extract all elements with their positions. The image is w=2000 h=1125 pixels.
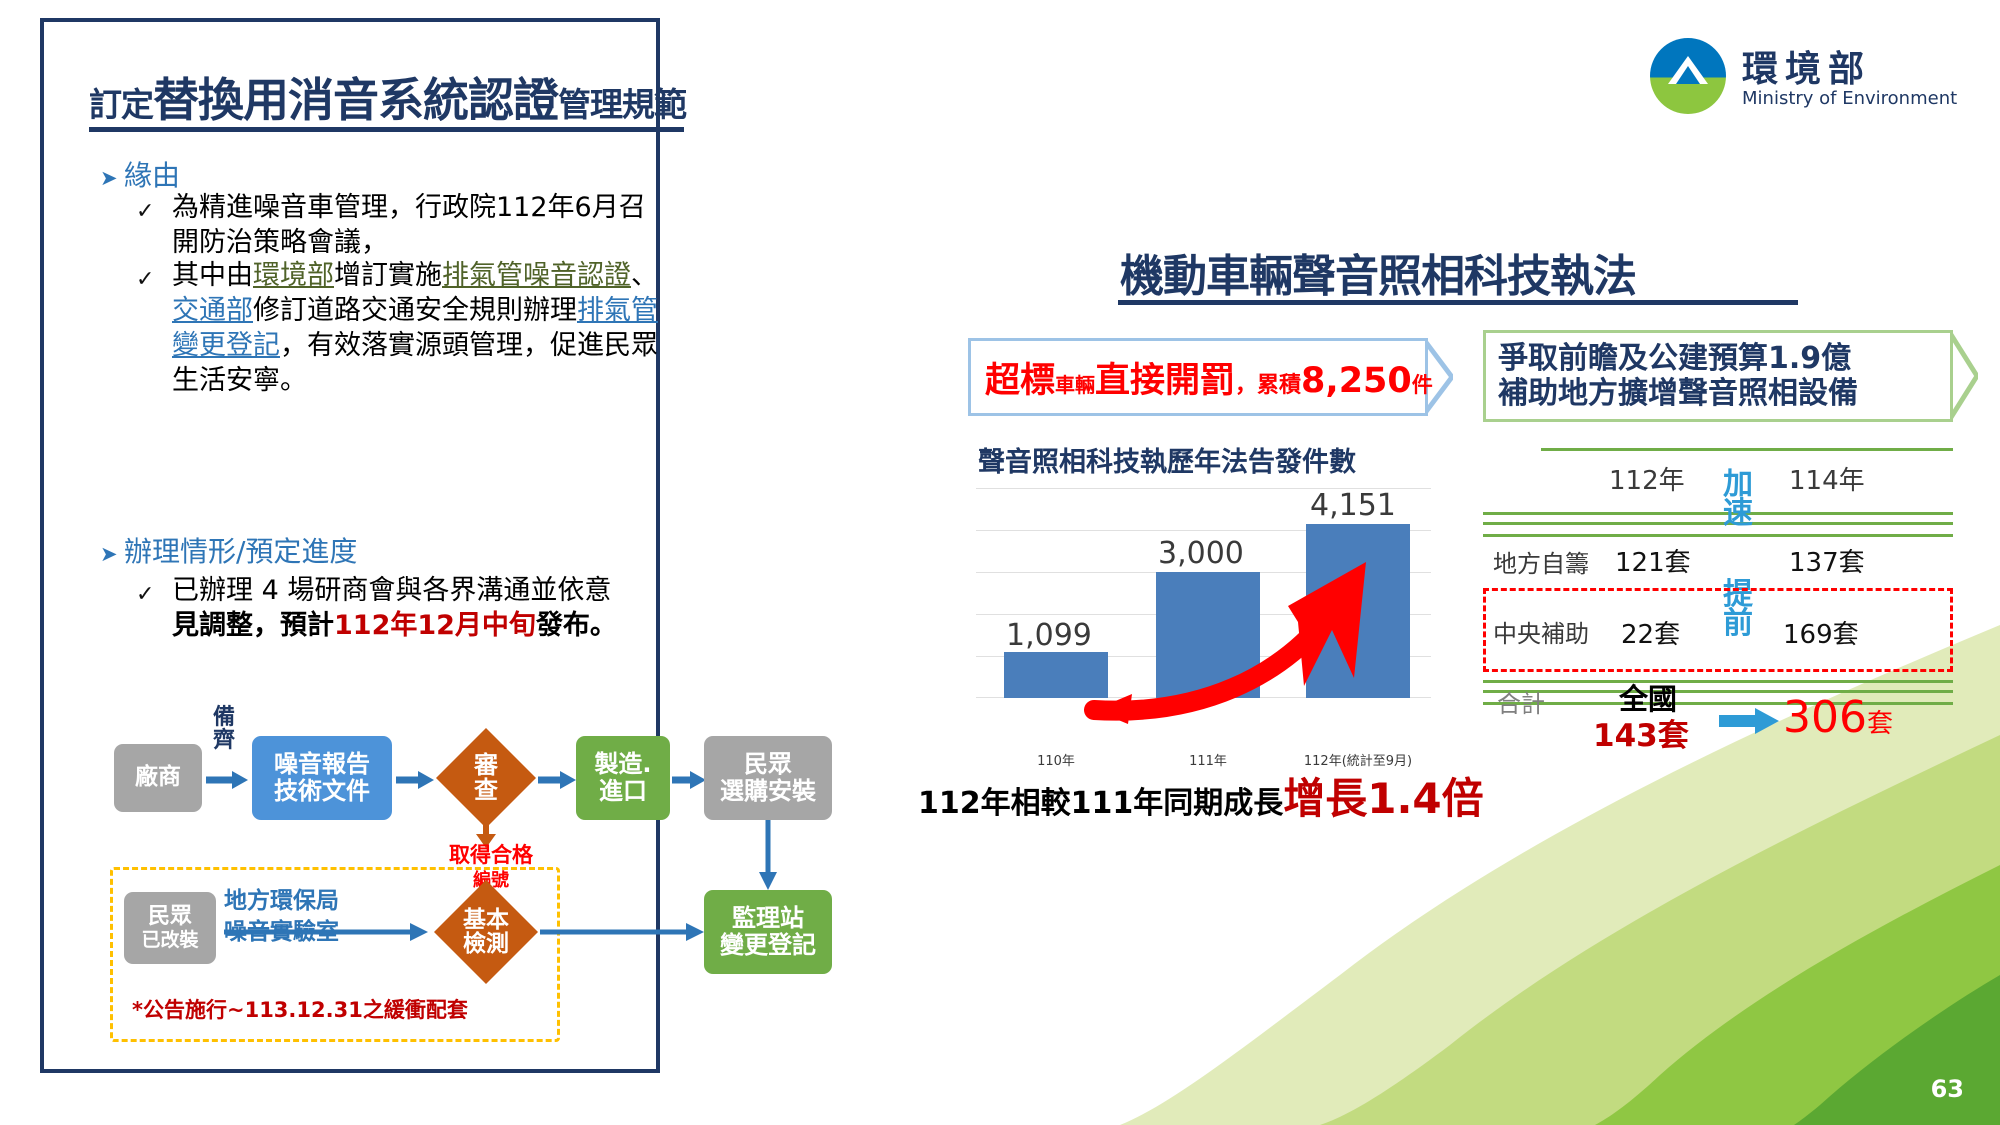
bp1-red-date: 112年12月中旬 [334, 610, 536, 641]
slide-root: 訂定替換用消音系統認證管理規範 ➤緣由 ✓ 為精進噪音車管理，行政院112年6月… [0, 0, 2000, 1125]
banner-budget-text: 爭取前瞻及公建預算1.9億 補助地方擴增聲音照相設備 [1486, 341, 1858, 412]
table-total-114: 306套 [1783, 692, 1893, 743]
table-total-114-value: 306 [1783, 692, 1867, 743]
enforcement-bar-chart: 聲音照相科技執歷年法告發件數 1,099 3,000 4,151 110年 11… [968, 440, 1438, 740]
bo2-green-moe: 環境部 [253, 260, 334, 291]
mountain-icon [1664, 54, 1712, 88]
bullet-origin-1-line1: 為精進噪音車管理，行政院112年6月召 [172, 192, 646, 223]
table-row-label-local: 地方自籌 [1493, 544, 1589, 579]
bullet-progress-1: 已辦理 4 場研商會與各界溝通並依意 見調整，預計112年12月中旬發布。 [172, 573, 682, 643]
vertical-label-accelerate: 加速 [1717, 470, 1759, 529]
section-heading-progress-label: 辦理情形/預定進度 [124, 535, 357, 568]
flow-node-public-modified: 民眾 已改裝 [124, 892, 216, 964]
flow-decision-review: 審 查 [436, 728, 536, 828]
table-total-label: 合計 [1497, 684, 1545, 719]
section-heading-origin-label: 緣由 [124, 159, 180, 192]
growth-text: 112年相較111年同期成長 [918, 786, 1283, 821]
check-icon: ✓ [136, 267, 154, 292]
banner-chevron-icon [1950, 333, 1978, 419]
ministry-logo-mark-icon [1650, 38, 1726, 114]
flow-node-manufacture-import: 製造. 進口 [576, 736, 670, 820]
ministry-logo: 環境部 Ministry of Environment [1650, 38, 1980, 118]
flow-node-registration-office: 監理站 變更登記 [704, 890, 832, 974]
flow-node-manufacturer: 廠商 [114, 744, 202, 812]
banner-chevron-icon [1425, 341, 1453, 413]
bullet-origin-1-line2: 開防治策略會議， [172, 227, 388, 258]
blue-arrow-icon [1719, 706, 1781, 736]
flow-arrow-down-icon [756, 820, 782, 894]
right-section-title: 機動車輛聲音照相科技執法 [1120, 240, 1636, 304]
page-title-suffix: 管理規範 [558, 85, 686, 124]
bullet-origin-1: 為精進噪音車管理，行政院112年6月召 開防治策略會議， [172, 190, 672, 260]
bp1-line1: 已辦理 4 場研商會與各界溝通並依意 [172, 575, 611, 606]
buffer-note: *公告施行~113.12.31之緩衝配套 [132, 994, 468, 1024]
banner-direct-penalty: 超標車輛直接開罰，累積8,250件 [968, 338, 1428, 416]
table-col-header-114: 114年 [1789, 460, 1865, 497]
chart-title: 聲音照相科技執歷年法告發件數 [978, 440, 1356, 479]
table-rule [1541, 448, 1953, 451]
chart-plot-area: 1,099 3,000 4,151 110年 111年 112年(統計至9月) [976, 488, 1431, 698]
bo2-p1: 其中由 [172, 260, 253, 291]
table-total-114-unit: 套 [1867, 709, 1893, 739]
certification-flowchart: 廠商 備齊 噪音報告 技術文件 審 查 製造. [104, 712, 694, 1042]
table-rule [1483, 534, 1953, 537]
bo2-green-cert: 排氣管噪音認證 [442, 260, 631, 291]
flow-node-public-purchase: 民眾 選購安裝 [704, 736, 832, 820]
arrow-bullet-icon: ➤ [100, 166, 124, 190]
bl-w3: 直接開罰 [1095, 361, 1235, 401]
table-col-header-112: 112年 [1609, 460, 1685, 497]
check-icon: ✓ [136, 582, 154, 607]
flow-arrow-icon [222, 920, 430, 944]
banner-budget: 爭取前瞻及公建預算1.9億 補助地方擴增聲音照相設備 [1483, 330, 1953, 422]
bp1-pre: 見調整，預計 [172, 610, 334, 641]
chart-bar [1306, 524, 1410, 698]
flow-arrow-icon [538, 920, 708, 944]
chart-bar-label: 4,151 [1310, 488, 1396, 523]
ministry-name-en: Ministry of Environment [1742, 88, 1957, 109]
left-panel: 訂定替換用消音系統認證管理規範 ➤緣由 ✓ 為精進噪音車管理，行政院112年6月… [40, 18, 660, 1073]
bp1-post: 發布。 [536, 610, 617, 641]
flow-arrow-icon [670, 768, 708, 792]
bo2-p5: ，有效落實源頭管理， [280, 330, 550, 361]
chart-bar-label: 3,000 [1158, 536, 1244, 571]
flow-arrow-icon [394, 768, 436, 792]
table-cell-local-114: 137套 [1789, 542, 1865, 579]
flow-label-prepare: 備齊 [208, 706, 240, 752]
page-number: 63 [1931, 1075, 1964, 1103]
growth-statement: 112年相較111年同期成長增長1.4倍 [918, 765, 1484, 826]
table-row-label-central: 中央補助 [1493, 614, 1589, 649]
bo2-blue-motc: 交通部 [172, 295, 253, 326]
table-cell-central-112: 22套 [1621, 614, 1680, 651]
bo2-p3: 、 [631, 260, 658, 291]
flow-node-noise-report: 噪音報告 技術文件 [252, 736, 392, 820]
page-title-underline [89, 127, 684, 132]
flow-arrow-icon [536, 768, 578, 792]
chart-bar [1004, 652, 1108, 698]
bl-w5-count: 8,250 [1301, 361, 1412, 401]
right-section-title-underline [1118, 300, 1798, 305]
bo2-p2: 增訂實施 [334, 260, 442, 291]
equipment-budget-table: 112年 114年 地方自籌 121套 137套 加速 提前 中央補助 22套 … [1483, 448, 1953, 738]
br-line1: 爭取前瞻及公建預算1.9億 [1498, 341, 1851, 376]
section-heading-origin: ➤緣由 [100, 154, 180, 194]
bl-w2: 車輛 [1055, 373, 1095, 397]
br-line2: 補助地方擴增聲音照相設備 [1498, 376, 1858, 411]
ministry-name-cn: 環境部 [1742, 40, 1871, 92]
chart-bar-label: 1,099 [1006, 618, 1092, 653]
flow-arrow-icon [204, 768, 250, 792]
growth-highlight: 增長1.4倍 [1283, 774, 1483, 823]
page-title: 訂定替換用消音系統認證管理規範 [89, 64, 689, 130]
check-icon: ✓ [136, 199, 154, 224]
banner-direct-penalty-text: 超標車輛直接開罰，累積8,250件 [971, 352, 1433, 403]
page-title-prefix: 訂定 [89, 85, 153, 124]
section-heading-progress: ➤辦理情形/預定進度 [100, 530, 357, 570]
table-rule [1483, 680, 1953, 683]
bl-w1: 超標 [985, 361, 1055, 401]
flow-label-pass: 取得合格 [416, 844, 566, 866]
table-total-112: 143套 [1593, 710, 1689, 755]
arrow-bullet-icon: ➤ [100, 542, 124, 566]
bo2-p4: 修訂道路交通安全規則辦理 [253, 295, 577, 326]
table-cell-local-112: 121套 [1615, 542, 1691, 579]
page-title-main: 替換用消音系統認證 [153, 73, 558, 127]
chart-bar [1156, 572, 1260, 698]
bullet-origin-2: 其中由環境部增訂實施排氣管噪音認證、交通部修訂道路交通安全規則辦理排氣管變更登記… [172, 258, 682, 398]
table-cell-central-114: 169套 [1783, 614, 1859, 651]
bl-w4: ，累積 [1235, 373, 1301, 398]
